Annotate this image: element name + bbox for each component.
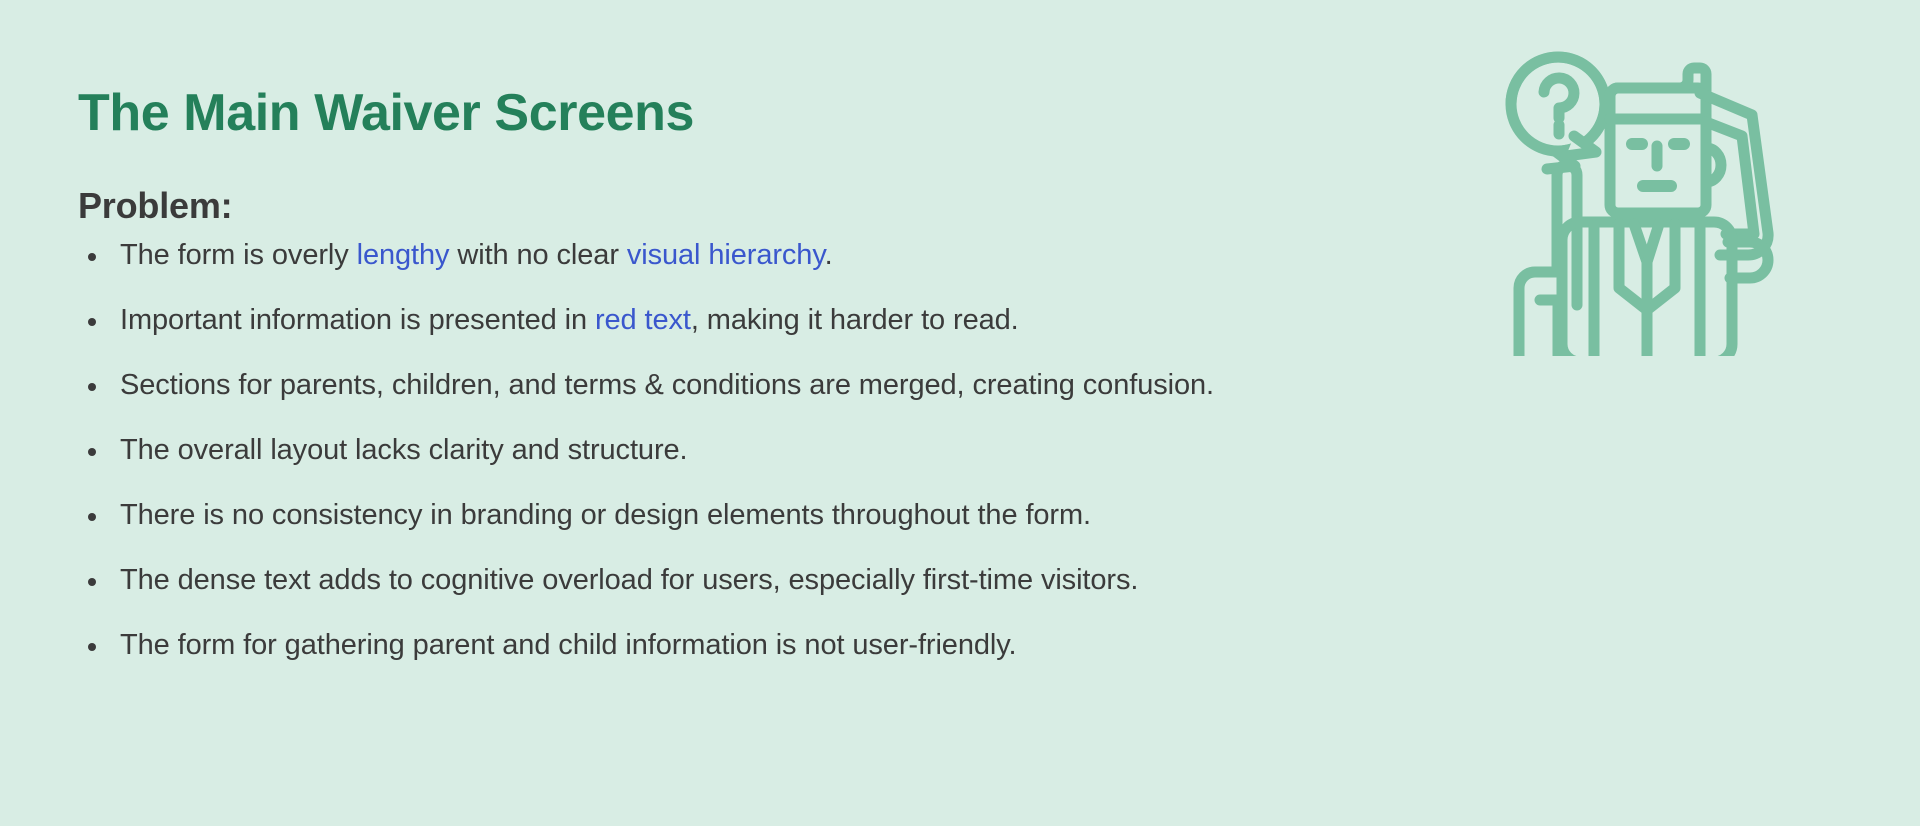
list-item-text: There is no consistency in branding or d… (120, 499, 1091, 531)
list-item-text: The dense text adds to cognitive overloa… (120, 564, 1138, 596)
confused-person-with-question-mark-icon (1462, 26, 1792, 356)
list-item: Important information is presented in re… (78, 306, 1418, 335)
confused-person-illustration (1462, 26, 1792, 356)
slide-root: The Main Waiver Screens Problem: The for… (0, 0, 1920, 826)
highlighted-phrase: red text (595, 304, 691, 336)
question-mark-hook-icon (1544, 78, 1574, 118)
list-item: There is no consistency in branding or d… (78, 501, 1418, 530)
bullet-dot-icon (88, 253, 96, 261)
list-item-text: Sections for parents, children, and term… (120, 369, 1214, 401)
bullet-dot-icon (88, 318, 96, 326)
list-item-text: Important information is presented in re… (120, 304, 1019, 336)
section-heading-problem: Problem: (78, 185, 1418, 227)
list-item: The form for gathering parent and child … (78, 631, 1418, 660)
bullet-dot-icon (88, 578, 96, 586)
held-document-icon (1540, 300, 1558, 356)
list-item-text: The form for gathering parent and child … (120, 629, 1016, 661)
bullet-dot-icon (88, 513, 96, 521)
bullet-dot-icon (88, 643, 96, 651)
list-item-text: The overall layout lacks clarity and str… (120, 434, 687, 466)
list-item: The overall layout lacks clarity and str… (78, 436, 1418, 465)
problem-bullet-list: The form is overly lengthy with no clear… (78, 241, 1418, 660)
tie-knot-icon (1634, 224, 1659, 262)
highlighted-phrase: lengthy (357, 239, 450, 271)
left-hand-icon (1519, 272, 1557, 356)
list-item: The form is overly lengthy with no clear… (78, 241, 1418, 270)
list-item-text: The form is overly lengthy with no clear… (120, 239, 833, 271)
list-item: The dense text adds to cognitive overloa… (78, 566, 1418, 595)
page-title: The Main Waiver Screens (78, 86, 1418, 141)
bullet-dot-icon (88, 448, 96, 456)
content-column: The Main Waiver Screens Problem: The for… (78, 86, 1418, 660)
list-item: Sections for parents, children, and term… (78, 371, 1418, 400)
highlighted-phrase: visual hierarchy (627, 239, 825, 271)
bullet-dot-icon (88, 383, 96, 391)
